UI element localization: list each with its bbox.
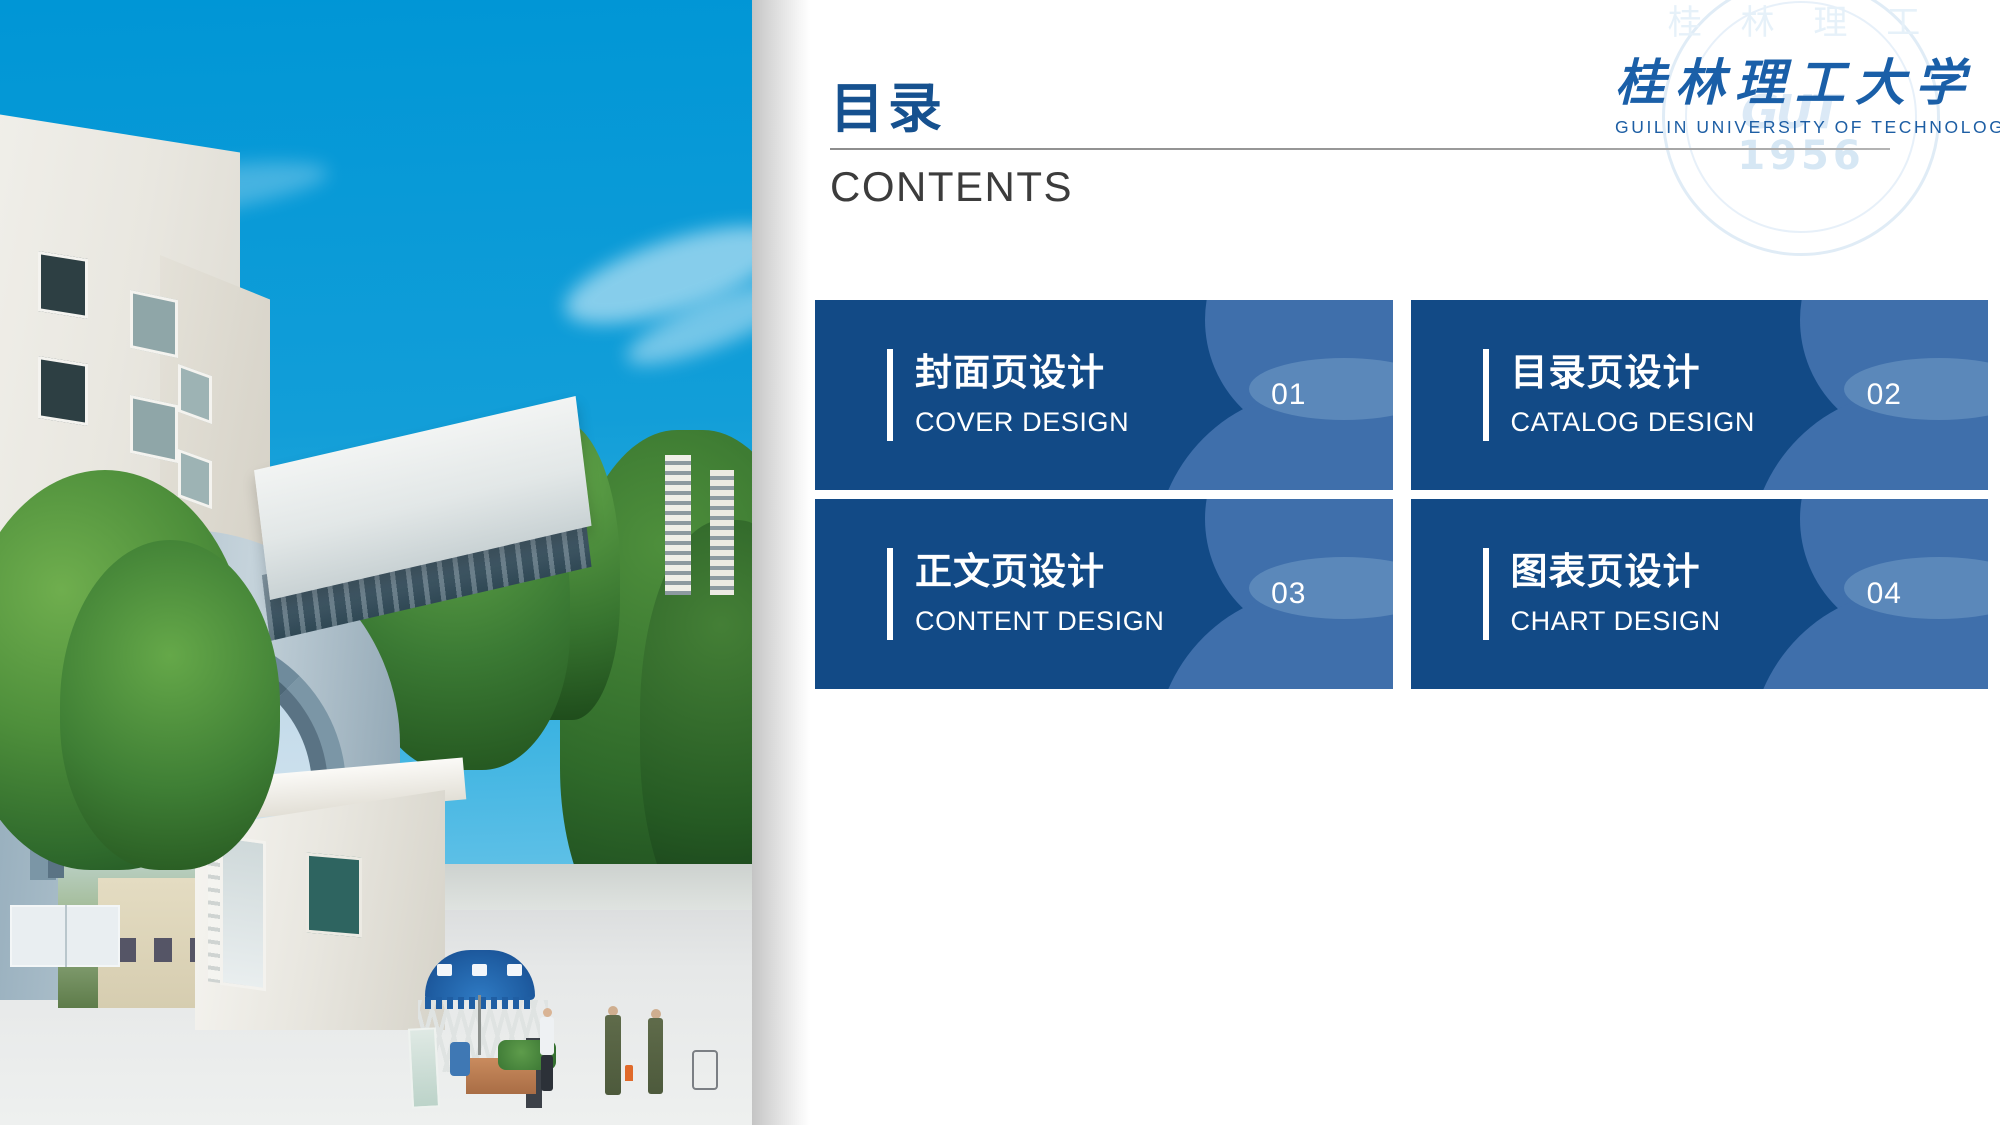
walking-person bbox=[648, 1018, 663, 1094]
card-accent-bar bbox=[887, 548, 893, 640]
catalog-card-02[interactable]: 目录页设计 CATALOG DESIGN 02 bbox=[1411, 300, 1989, 490]
page-title: 目录 bbox=[830, 64, 946, 143]
catalog-card-03[interactable]: 正文页设计 CONTENT DESIGN 03 bbox=[815, 499, 1393, 689]
walking-person bbox=[605, 1015, 621, 1095]
card-text-group: 封面页设计 COVER DESIGN bbox=[915, 352, 1129, 438]
building-window bbox=[130, 290, 178, 358]
distant-window bbox=[154, 938, 172, 962]
notice-signboard bbox=[408, 1027, 440, 1108]
card-title-cn: 图表页设计 bbox=[1511, 551, 1721, 594]
guard-person bbox=[540, 1017, 554, 1055]
university-name-cn: 桂林理工大学 bbox=[1615, 58, 1975, 108]
content-area: 桂 林 理 工 GUT 1956 桂林理工大学 GUILIN UNIVERSIT… bbox=[810, 0, 2000, 1125]
campus-photo bbox=[0, 0, 752, 1125]
card-accent-bar bbox=[1483, 548, 1489, 640]
building-window bbox=[38, 356, 88, 426]
card-title-cn: 正文页设计 bbox=[915, 551, 1164, 594]
card-number: 03 bbox=[1271, 577, 1306, 611]
university-logo: 桂林理工大学 GUILIN UNIVERSITY OF TECHNOLOGY bbox=[1615, 58, 1975, 138]
contents-label: CONTENTS bbox=[830, 163, 1073, 211]
decor-lens-highlight bbox=[1249, 557, 1393, 619]
catalog-card-04[interactable]: 图表页设计 CHART DESIGN 04 bbox=[1411, 499, 1989, 689]
traffic-pylon bbox=[625, 1065, 633, 1081]
guard-person bbox=[541, 1055, 553, 1091]
umbrella-panel bbox=[437, 964, 452, 976]
decor-circle-top bbox=[1800, 300, 1988, 444]
decor-circle-top bbox=[1800, 499, 1988, 643]
catalog-card-01[interactable]: 封面页设计 COVER DESIGN 01 bbox=[815, 300, 1393, 490]
card-number: 02 bbox=[1867, 378, 1902, 412]
card-title-en: CONTENT DESIGN bbox=[915, 606, 1164, 637]
card-title-en: CHART DESIGN bbox=[1511, 606, 1721, 637]
photo-edge-shadow bbox=[752, 0, 810, 1125]
card-number: 01 bbox=[1271, 378, 1306, 412]
building-window bbox=[130, 395, 178, 463]
card-title-cn: 目录页设计 bbox=[1511, 352, 1755, 395]
umbrella-pole bbox=[478, 995, 481, 1055]
card-text-group: 图表页设计 CHART DESIGN bbox=[1511, 551, 1721, 637]
umbrella-panel bbox=[472, 964, 487, 976]
lamp-tower bbox=[710, 470, 734, 595]
distant-window bbox=[118, 938, 136, 962]
umbrella-panel bbox=[507, 964, 522, 976]
title-divider bbox=[830, 148, 1890, 150]
bicycle bbox=[692, 1050, 718, 1090]
tree bbox=[60, 540, 280, 870]
card-text-group: 目录页设计 CATALOG DESIGN bbox=[1511, 352, 1755, 438]
card-text-group: 正文页设计 CONTENT DESIGN bbox=[915, 551, 1164, 637]
guard-person bbox=[543, 1008, 552, 1017]
university-name-en: GUILIN UNIVERSITY OF TECHNOLOGY bbox=[1615, 117, 1975, 138]
card-accent-bar bbox=[1483, 349, 1489, 441]
gate-window-mullion bbox=[65, 905, 67, 967]
seal-year: 1956 bbox=[1665, 133, 1937, 179]
building-window bbox=[38, 251, 88, 319]
decor-circle-top bbox=[1205, 300, 1393, 444]
seated-person bbox=[450, 1042, 470, 1076]
seal-cjk-text: 桂 林 理 工 bbox=[1665, 0, 1937, 44]
card-number: 04 bbox=[1867, 577, 1902, 611]
decor-lens-highlight bbox=[1844, 358, 1988, 420]
card-title-en: CATALOG DESIGN bbox=[1511, 407, 1755, 438]
booth-door bbox=[220, 835, 266, 991]
booth-window bbox=[306, 853, 362, 938]
decor-circle-top bbox=[1205, 499, 1393, 643]
slide-catalog-page: 桂 林 理 工 GUT 1956 桂林理工大学 GUILIN UNIVERSIT… bbox=[0, 0, 2000, 1125]
lamp-tower bbox=[665, 455, 691, 595]
catalog-card-grid: 封面页设计 COVER DESIGN 01 目录页设计 CATALOG DESI… bbox=[815, 300, 1988, 689]
card-accent-bar bbox=[887, 349, 893, 441]
decor-lens-highlight bbox=[1249, 358, 1393, 420]
card-title-en: COVER DESIGN bbox=[915, 407, 1129, 438]
card-title-cn: 封面页设计 bbox=[915, 352, 1129, 395]
decor-lens-highlight bbox=[1844, 557, 1988, 619]
